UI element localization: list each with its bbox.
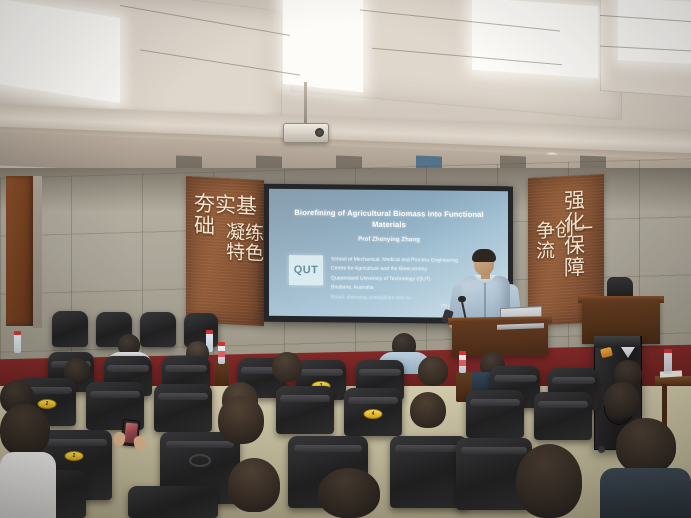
qut-logo-text: QUT [294,264,318,276]
foreground-head [228,458,280,512]
seat-headrest [348,397,398,404]
seat-back-row[interactable] [52,311,88,347]
foreground-shoulders [0,452,56,518]
seat-front-row[interactable] [128,486,218,518]
seat-row-2[interactable] [534,392,592,440]
hand-holding-phone [133,435,146,450]
audience-head [604,382,640,418]
door-frame [33,176,42,328]
audience-head [272,352,302,382]
bottle-label [218,351,225,357]
seat-headrest [538,401,588,408]
seat-headrest [107,365,148,372]
ceiling-light-panel [618,0,691,64]
seat-headrest [359,369,400,376]
audience-head [418,356,448,386]
seat-headrest [280,395,330,402]
foreground-head [516,444,582,518]
lecture-photo: 夯实基础 凝练特色 强化保障 争创一流 Biorefining of Agric… [0,0,691,518]
seat-back-row[interactable] [140,312,176,347]
slide-author: Prof Zhenying Zhang [283,235,495,244]
seat-headrest [166,441,235,448]
audience-head [410,392,446,428]
seat-headrest [294,445,363,452]
foreground-head [0,404,50,456]
seat-number-plate: 2 [38,399,57,409]
banner-right-outer-text: 争创一流 [536,218,604,262]
seat-headrest [470,399,520,406]
ceiling-light-panel [472,0,598,78]
seat-headrest [41,439,106,446]
seat-headrest [158,393,208,400]
bottle-cap-icon [14,331,21,335]
bottle-cap-icon [664,349,672,353]
seat-headrest [552,377,595,384]
wooden-door[interactable] [6,176,36,326]
bottle-label [459,360,466,366]
projector-mount-rod [304,82,307,126]
pa-speaker-top [594,336,640,348]
seat-headrest [165,365,206,372]
microphone-icon[interactable] [458,296,466,302]
seat-headrest [300,369,343,376]
pa-caster-icon [598,446,605,453]
seat-headrest [494,375,537,382]
water-bottle [14,334,21,353]
foreground-shoulders [600,468,691,518]
seat-headrest [90,391,140,398]
seat-row-2[interactable]: 4 [344,388,402,436]
seat-number-plate: 2 [65,451,84,461]
foreground-head [318,468,380,518]
ceiling-light-panel [283,0,363,92]
seat-headrest [395,445,462,452]
calligraphy-banner-left: 夯实基础 凝练特色 [186,176,264,326]
bottle-cap-icon [206,330,213,334]
bottle-cap-icon [218,342,225,346]
speaker-hair [472,249,496,262]
seat-row-2[interactable] [154,384,212,432]
seat-row-2[interactable] [276,386,334,434]
slide-title: Biorefining of Agricultural Biomass into… [283,207,495,232]
seat-grip-icon [189,454,211,467]
foreground-head [218,396,264,444]
foreground-head [616,418,676,474]
projector-lens-icon [315,128,324,137]
banner-left-inner-text: 凝练特色 [226,222,264,264]
water-bottle [664,352,672,374]
seat-row-2[interactable] [466,390,524,438]
qut-logo: QUT [289,255,323,285]
seat-headrest [461,447,526,454]
bottle-cap-icon [459,351,466,355]
seat-number-plate: 4 [364,409,383,419]
